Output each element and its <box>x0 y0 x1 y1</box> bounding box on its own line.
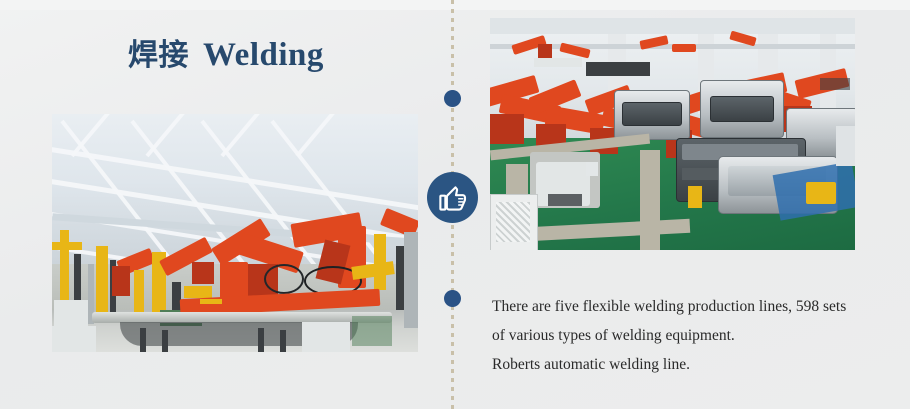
description-line-1: There are five flexible welding producti… <box>492 292 892 321</box>
title-chinese: 焊接 <box>128 38 189 73</box>
title-english: Welding <box>203 37 324 73</box>
welding-shop-photo-left <box>52 114 418 352</box>
description-text: There are five flexible welding producti… <box>492 292 892 379</box>
bullet-dot-bottom <box>444 290 461 307</box>
bullet-dot-top <box>444 90 461 107</box>
page-title: 焊接Welding <box>128 30 324 74</box>
thumbs-up-icon <box>438 183 468 213</box>
thumbs-up-badge <box>427 172 478 223</box>
description-line-2: of various types of welding equipment. <box>492 321 892 350</box>
welding-line-photo-right <box>490 18 855 250</box>
slide-canvas: 焊接Welding <box>0 0 910 409</box>
slide-top-band <box>0 0 910 10</box>
description-line-3: Roberts automatic welding line. <box>492 350 892 379</box>
